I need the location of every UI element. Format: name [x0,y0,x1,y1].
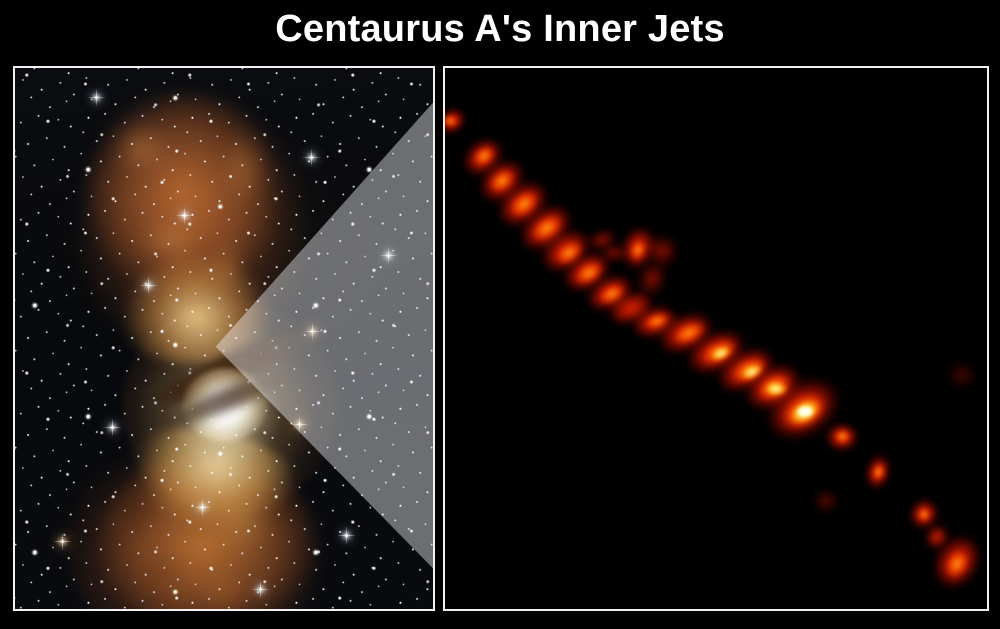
foreground-star [201,506,204,509]
radio-panel-content [445,68,987,609]
foreground-star [183,214,186,217]
radio-background [445,68,987,609]
foreground-star [311,330,314,333]
foreground-star [95,96,98,99]
foreground-star [259,588,262,591]
foreground-star [298,423,301,426]
foreground-star [147,284,150,287]
foreground-star [61,540,64,543]
optical-wide-field-panel [13,66,435,611]
foreground-star [387,254,390,257]
foreground-star [310,156,313,159]
figure-title: Centaurus A's Inner Jets [0,6,1000,52]
optical-panel-content [15,68,433,609]
foreground-star [345,534,348,537]
figure-canvas: Centaurus A's Inner Jets [0,0,1000,629]
radio-jet-closeup-panel [443,66,989,611]
foreground-star [111,426,114,429]
